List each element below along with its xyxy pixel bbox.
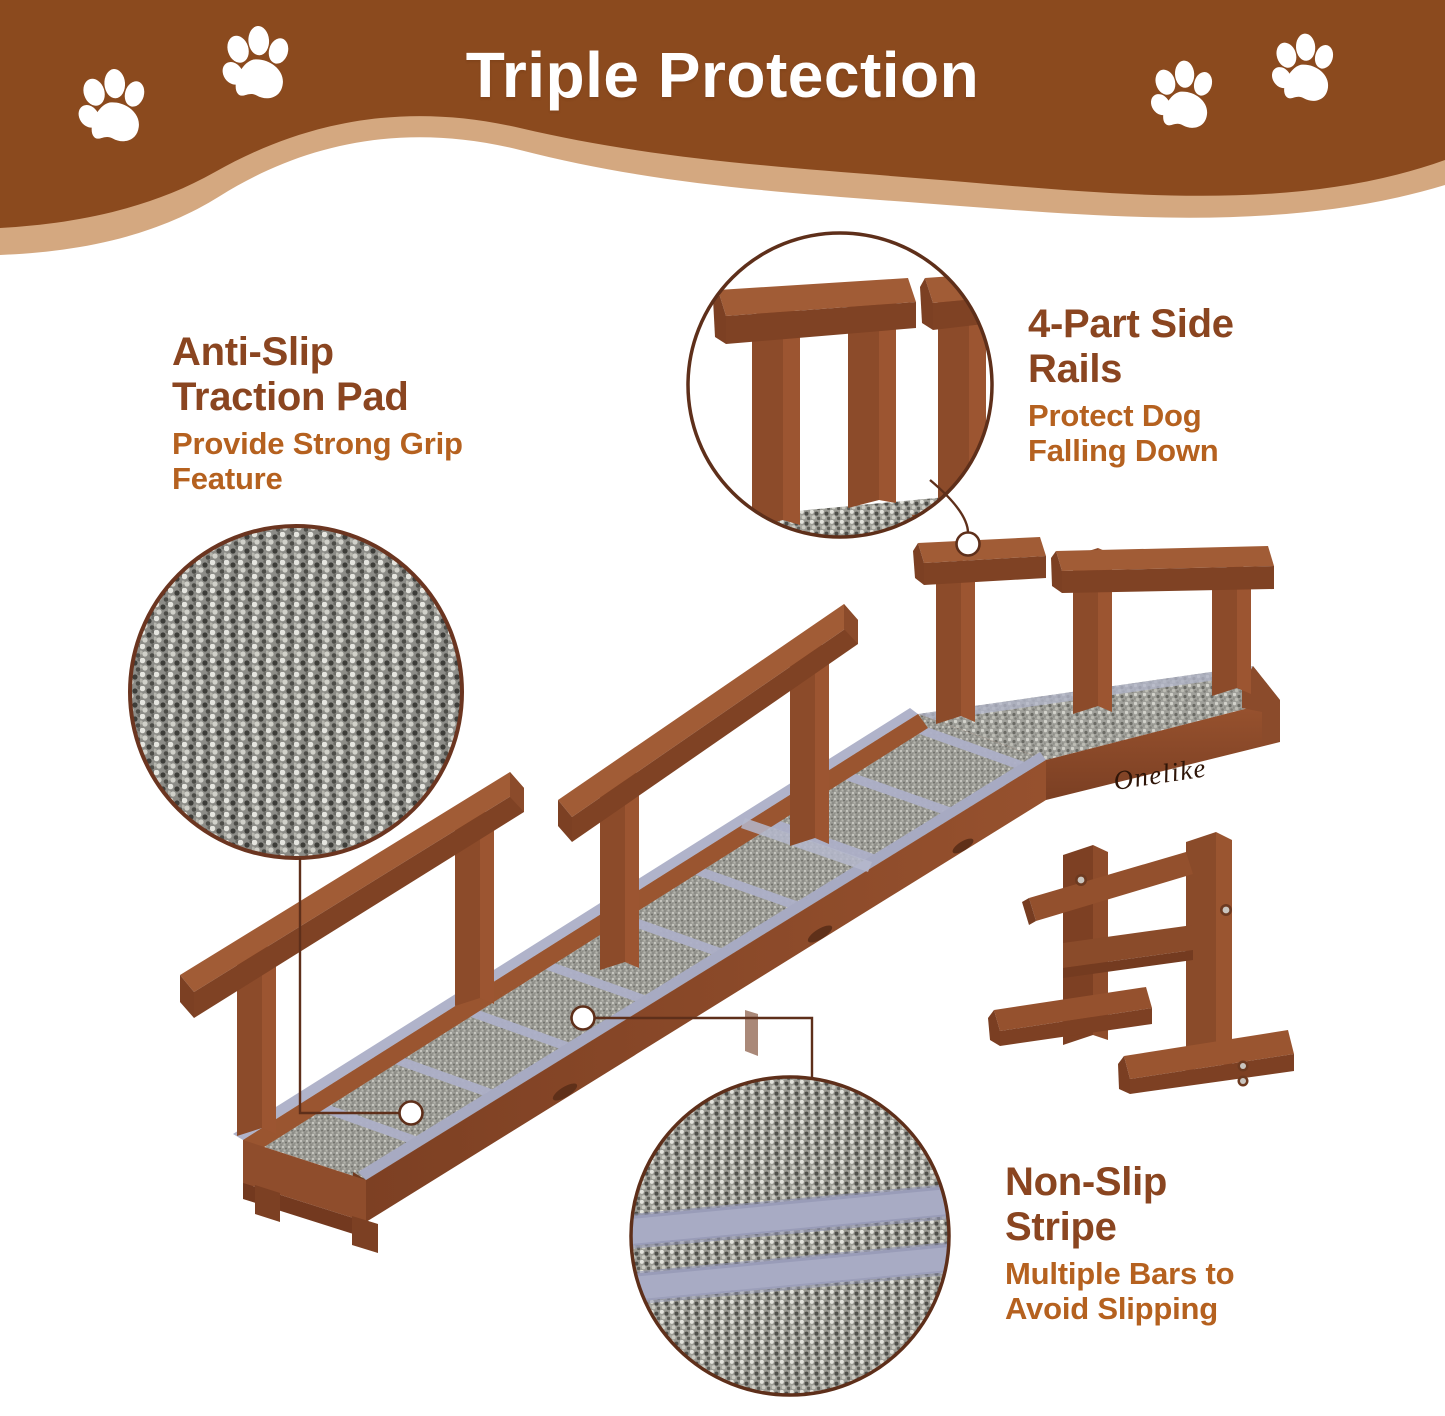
- feature-subtitle: Protect Dog Falling Down: [1028, 398, 1428, 469]
- feature-subtitle: Multiple Bars to Avoid Slipping: [1005, 1256, 1425, 1327]
- infographic-page: Onelike: [0, 0, 1445, 1416]
- page-title: Triple Protection: [0, 38, 1445, 112]
- feature-title: 4-Part Side Rails: [1028, 302, 1428, 392]
- feature-non-slip-stripe: Non-Slip Stripe Multiple Bars to Avoid S…: [1005, 1160, 1425, 1326]
- feature-subtitle: Provide Strong Grip Feature: [172, 426, 592, 497]
- header-banner: Triple Protection: [0, 0, 1445, 260]
- side-rails-closeup: [688, 233, 1018, 560]
- feature-four-part-side-rails: 4-Part Side Rails Protect Dog Falling Do…: [1028, 302, 1428, 468]
- feature-anti-slip-traction-pad: Anti-Slip Traction Pad Provide Strong Gr…: [172, 330, 592, 496]
- feature-title: Anti-Slip Traction Pad: [172, 330, 592, 420]
- non-slip-stripe-closeup: [631, 1077, 949, 1395]
- feature-title: Non-Slip Stripe: [1005, 1160, 1425, 1250]
- traction-pad-closeup: [130, 526, 462, 858]
